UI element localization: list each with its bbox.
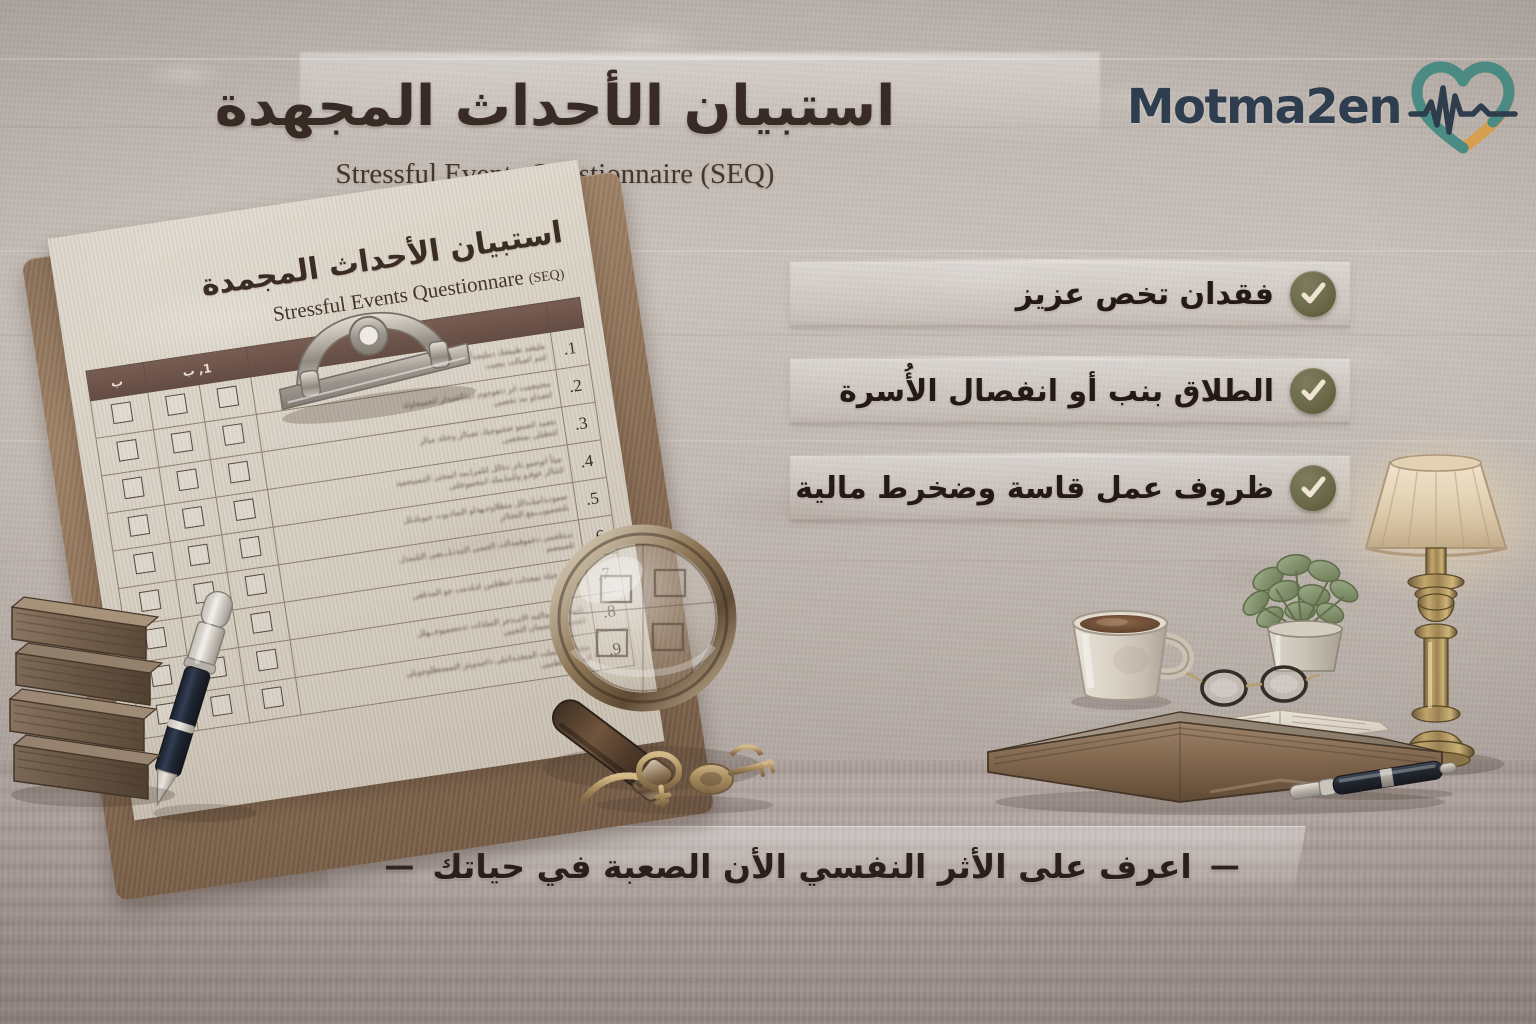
ballpoint-pen-right[interactable] [1285,760,1460,800]
reading-glasses[interactable] [1190,662,1320,712]
list-item-label: ظروف عمل قاسة وضخرط مالية [795,471,1274,506]
logo-wordmark: Motma2en [1127,79,1401,135]
checkbox-icon[interactable] [181,506,204,529]
list-item[interactable]: الطلاق بنب أو انفصال الأُسرة [790,359,1350,423]
stressor-list: فقدان تخص عزيز الطلاق بنب أو انفصال الأُ… [790,262,1350,553]
check-circle-icon [1290,368,1336,414]
caption-text: اعرف على الأثر النفسي الأن الصعبة في حيا… [432,847,1191,886]
checkbox-icon[interactable] [176,468,199,491]
checkbox-icon[interactable] [116,439,139,462]
checkbox-icon[interactable] [222,423,245,446]
checkbox-icon[interactable] [227,461,250,484]
checkbox-icon[interactable] [110,401,133,424]
row-number: 4. [567,440,606,483]
list-item[interactable]: ظروف عمل قاسة وضخرط مالية [790,456,1350,520]
row-number: 1. [550,327,589,370]
brand-logo[interactable]: Motma2en [1145,56,1515,158]
check-circle-icon [1290,465,1336,511]
check-circle-icon [1290,271,1336,317]
list-item-label: فقدان تخص عزيز [1016,277,1274,312]
paper-title-abbr: (SEQ) [528,267,566,287]
potted-plant[interactable] [1232,545,1382,675]
infographic-canvas: استبيان الأحداث المجهدة Stressful Events… [0,0,1536,1024]
checkbox-icon[interactable] [165,393,188,416]
row-number: 3. [562,402,601,445]
page-title-arabic: استبيان الأحداث المجهدة [0,74,1110,139]
list-item[interactable]: فقدان تخص عزيز [790,262,1350,326]
checkbox-icon[interactable] [127,514,150,537]
checkbox-icon[interactable] [233,498,256,521]
book-stack[interactable] [8,545,178,805]
brass-keys[interactable] [575,735,785,815]
checkbox-icon[interactable] [187,544,210,567]
checkbox-icon[interactable] [170,431,193,454]
checkbox-icon[interactable] [121,477,144,500]
checkbox-icon[interactable] [216,386,239,409]
checkbox-icon[interactable] [238,536,261,559]
caption-dash-right: — [1210,849,1240,884]
heart-ecg-logo-icon [1411,62,1515,152]
row-number: 2. [556,365,595,408]
row-number: 5. [573,477,612,520]
list-item-label: الطلاق بنب أو انفصال الأُسرة [839,374,1274,409]
